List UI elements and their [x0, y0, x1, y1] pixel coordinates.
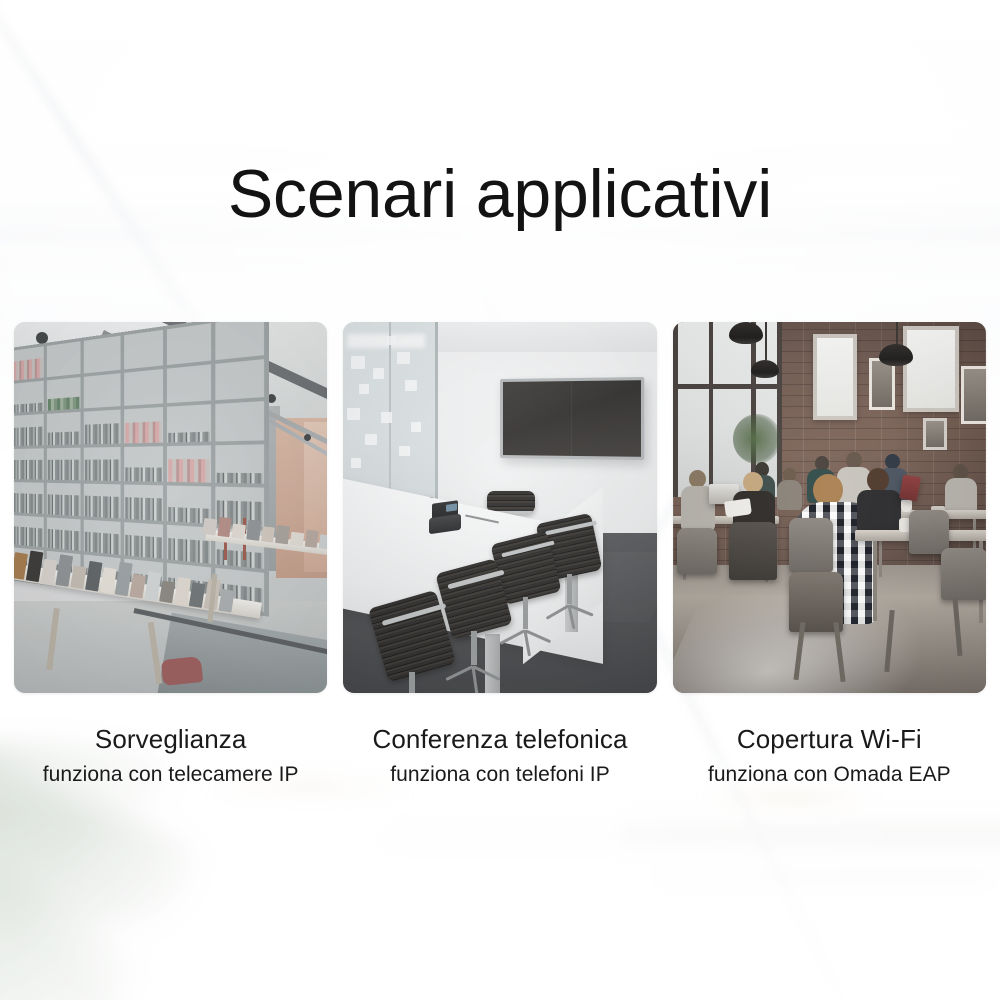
window-mullion — [673, 384, 782, 389]
glass-frit-square — [365, 434, 377, 445]
caption-wifi: Copertura Wi-Fi funziona con Omada EAP — [673, 722, 986, 789]
pendant-shade — [729, 322, 763, 344]
tablet — [899, 475, 921, 502]
shelf-cube — [47, 483, 80, 516]
shelf-cube — [47, 341, 80, 377]
shelf-cube — [47, 377, 80, 411]
scenario-card-surveillance[interactable] — [14, 322, 327, 693]
shelf-cube — [124, 484, 164, 520]
book — [159, 580, 175, 603]
shelf-cube — [216, 322, 264, 360]
chair-post — [567, 574, 572, 604]
glass-frit-square — [351, 458, 361, 468]
metal-chair — [909, 510, 949, 554]
shelf-cube — [167, 364, 211, 404]
book — [218, 589, 234, 613]
table-leg — [485, 634, 500, 693]
shelf-cube — [124, 369, 164, 407]
book — [217, 517, 232, 537]
chair-post — [523, 597, 528, 629]
glass-frit-square — [397, 352, 410, 364]
shelf-cube — [167, 323, 211, 364]
pendant-light — [751, 360, 779, 378]
window-plant — [733, 414, 781, 464]
shelf-cube — [47, 412, 80, 445]
book — [203, 518, 218, 535]
caption-title: Copertura Wi-Fi — [673, 722, 986, 756]
pendant-light — [729, 322, 763, 344]
glass-frit-square — [373, 368, 384, 379]
ip-phone-lcd — [446, 503, 457, 512]
shelf-cube — [83, 519, 120, 555]
window-mullion — [673, 322, 678, 497]
metal-chair — [729, 522, 777, 580]
book — [246, 519, 261, 540]
shelf-cube — [14, 346, 44, 380]
shelf-cube — [83, 447, 120, 481]
ip-phone — [429, 502, 461, 532]
glass-frit-square — [399, 446, 410, 456]
book — [70, 565, 86, 589]
pendant-shade — [751, 360, 779, 378]
shelf-cube — [14, 482, 44, 514]
book — [261, 526, 275, 542]
application-scenarios-page: Scenari applicativi — [0, 0, 1000, 1000]
conference-room-photo — [343, 322, 656, 693]
book — [275, 525, 290, 544]
shelf-cube — [83, 373, 120, 409]
red-object — [161, 656, 203, 686]
book — [232, 524, 246, 539]
glass-frit-square — [351, 356, 365, 369]
metal-chair — [789, 518, 833, 572]
glass-frit-square — [359, 384, 369, 394]
caption-title: Sorveglianza — [14, 722, 327, 756]
shelf-cube — [216, 445, 264, 484]
page-content: Scenari applicativi — [0, 0, 1000, 1000]
shelf-cube — [14, 380, 44, 413]
window-mullion — [777, 322, 782, 497]
book — [290, 532, 304, 546]
scenario-card-conference[interactable] — [343, 322, 656, 693]
shelf-cube — [216, 359, 264, 401]
scenario-card-wifi[interactable] — [673, 322, 986, 693]
metal-chair — [677, 528, 717, 574]
book — [130, 574, 146, 599]
scenario-caption-list: Sorveglianza funziona con telecamere IP … — [14, 722, 986, 789]
spotlight-icon — [304, 434, 311, 441]
caption-surveillance: Sorveglianza funziona con telecamere IP — [14, 722, 327, 789]
caption-conference: Conferenza telefonica funziona con telef… — [343, 722, 656, 789]
pendant-cord — [765, 322, 767, 360]
pendant-cord — [896, 322, 898, 344]
brick-wall-window — [903, 326, 959, 412]
shelf-cube — [14, 449, 44, 480]
glass-frit-square — [387, 336, 396, 345]
page-title: Scenari applicativi — [0, 158, 1000, 230]
wall-sign — [923, 418, 947, 450]
person-head — [885, 454, 900, 469]
shelf-cube — [83, 336, 120, 373]
shelf-cube — [14, 414, 44, 446]
caption-title: Conferenza telefonica — [343, 722, 656, 756]
metal-chair — [941, 548, 986, 600]
person-head — [743, 472, 763, 493]
window-mullion — [709, 322, 713, 497]
glass-frit-square — [347, 408, 360, 420]
book — [319, 534, 327, 549]
shelf-cube — [124, 330, 164, 369]
shelf-cube — [167, 405, 211, 443]
shelf-cube — [167, 445, 211, 482]
shelf-cube — [124, 446, 164, 481]
chair-post — [409, 672, 415, 693]
coffee-cup — [901, 500, 912, 512]
pendant-light — [879, 344, 913, 366]
cafe-coworking-photo — [673, 322, 986, 693]
shelf-cube — [124, 522, 164, 560]
book — [100, 567, 117, 594]
table-leg — [873, 541, 877, 621]
shelf-cube — [83, 483, 120, 518]
glass-frit-square — [405, 380, 417, 391]
scenario-card-list — [14, 322, 986, 693]
caption-subtitle: funziona con Omada EAP — [673, 761, 986, 789]
shelf-cube — [83, 410, 120, 445]
person-body — [777, 480, 802, 510]
brick-wall-window — [813, 334, 857, 420]
shelf-cube — [124, 407, 164, 443]
caption-subtitle: funziona con telecamere IP — [14, 761, 327, 789]
caption-subtitle: funziona con telefoni IP — [343, 761, 656, 789]
glass-frit-square — [411, 422, 421, 432]
pendant-shade — [879, 344, 913, 366]
glass-reflection — [347, 334, 425, 348]
person-head — [867, 468, 889, 492]
book — [189, 582, 206, 608]
shelf-cube — [216, 402, 264, 442]
glass-frit-square — [381, 412, 392, 423]
library-photo — [14, 322, 327, 693]
shelf-cube — [47, 448, 80, 480]
framed-artwork — [961, 366, 986, 424]
ip-phone-base — [429, 514, 461, 534]
book — [41, 559, 58, 585]
wall-mounted-tv — [500, 377, 644, 460]
chair-backrest — [487, 491, 535, 513]
chair-post — [471, 631, 477, 665]
book — [304, 530, 319, 548]
tv-seam — [571, 381, 572, 456]
